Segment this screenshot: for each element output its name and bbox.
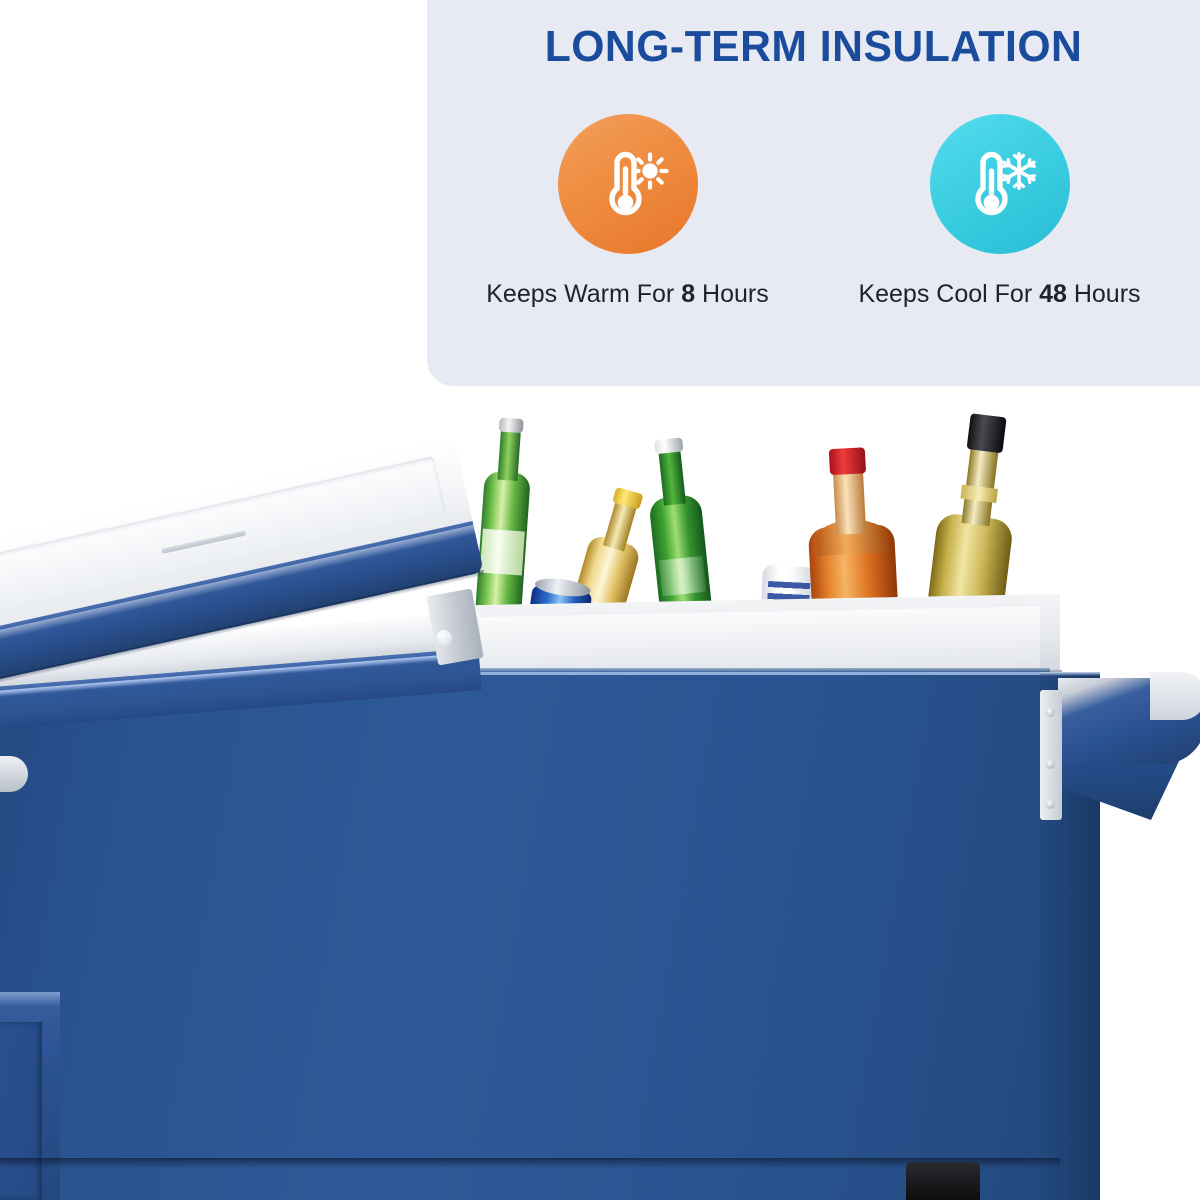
bottle-label — [480, 529, 525, 576]
base-shadow — [0, 1158, 1060, 1168]
lower-shelf-face — [0, 1022, 42, 1200]
warm-label: Keeps Warm For 8 Hours — [486, 280, 769, 309]
info-panel: LONG-TERM INSULATION — [427, 0, 1200, 386]
cool-label-suffix: Hours — [1067, 280, 1141, 308]
bottle-cap — [654, 437, 683, 454]
bottle-cap-black — [967, 413, 1007, 453]
handle-screw — [1046, 708, 1055, 717]
lid-hinge-pin — [436, 630, 452, 646]
feature-list: Keeps Warm For 8 Hours — [427, 114, 1200, 364]
warm-value: 8 — [681, 280, 695, 308]
lower-shelf-top — [0, 992, 60, 1006]
cool-label: Keeps Cool For 48 Hours — [858, 280, 1140, 309]
handle-screw — [1046, 760, 1055, 769]
thermometer-sun-icon — [585, 141, 671, 227]
bottle-neck — [833, 467, 866, 534]
warm-label-suffix: Hours — [695, 280, 769, 308]
thermometer-snowflake-icon — [957, 141, 1043, 227]
cool-label-prefix: Keeps Cool For — [858, 280, 1039, 308]
bottle-label — [659, 556, 707, 596]
cool-badge — [930, 114, 1070, 254]
feature-keeps-warm: Keeps Warm For 8 Hours — [478, 114, 778, 309]
bottle-neck — [658, 448, 686, 506]
product-banner: LONG-TERM INSULATION — [0, 0, 1200, 1200]
page-title: LONG-TERM INSULATION — [439, 22, 1189, 72]
feature-keeps-cool: Keeps Cool For 48 Hours — [850, 114, 1150, 309]
warm-label-prefix: Keeps Warm For — [486, 280, 681, 308]
handle-screw — [1046, 800, 1055, 809]
cool-value: 48 — [1039, 280, 1067, 308]
side-handle-cap — [1150, 672, 1200, 720]
bottle-cap — [499, 418, 524, 434]
cooler-leg — [906, 1162, 980, 1200]
cooler-body-side-highlight — [1040, 672, 1100, 676]
bottle-cap-red — [829, 447, 866, 475]
bottle-neck — [497, 428, 521, 481]
cooler-body-front — [0, 668, 1050, 1200]
bottle-neck — [961, 441, 999, 526]
warm-badge — [558, 114, 698, 254]
